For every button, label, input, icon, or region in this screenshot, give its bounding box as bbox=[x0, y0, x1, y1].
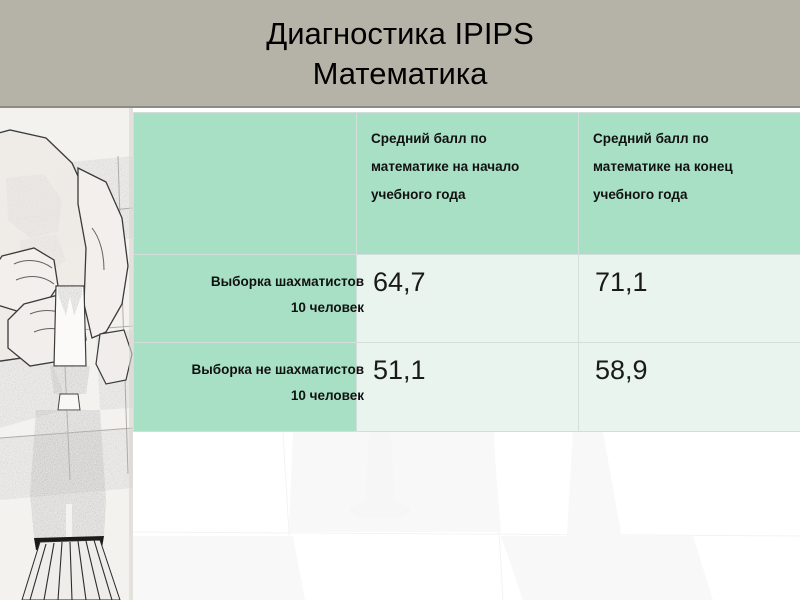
table-row: Выборка шахматистов 10 человек 64,7 71,1 bbox=[134, 254, 800, 343]
title-band: Диагностика IPIPS Математика bbox=[0, 0, 800, 108]
header-label-start-of-year: Средний балл по математике на начало уче… bbox=[357, 113, 578, 219]
chessboard-faint-icon bbox=[133, 432, 800, 600]
slide-canvas: Диагностика IPIPS Математика bbox=[0, 0, 800, 600]
row-label-text: Выборка не шахматистов 10 человек bbox=[134, 343, 364, 409]
background-chessboard-art bbox=[133, 432, 800, 600]
row-label-text: Выборка шахматистов 10 человек bbox=[134, 255, 364, 321]
hand-chess-king-icon bbox=[0, 108, 133, 600]
row-label-non-chess-players: Выборка не шахматистов 10 человек bbox=[134, 343, 357, 432]
value-text: 51,1 bbox=[357, 343, 578, 387]
header-cell-start-of-year: Средний балл по математике на начало уче… bbox=[357, 113, 579, 255]
header-label-empty bbox=[134, 113, 356, 135]
value-text: 64,7 bbox=[357, 255, 578, 299]
header-cell-empty bbox=[134, 113, 357, 255]
value-chess-players-end: 71,1 bbox=[579, 254, 800, 343]
value-non-chess-players-end: 58,9 bbox=[579, 343, 800, 432]
table-row: Выборка не шахматистов 10 человек 51,1 5… bbox=[134, 343, 800, 432]
chess-hand-illustration bbox=[0, 108, 133, 600]
value-text: 58,9 bbox=[579, 343, 800, 387]
page-title: Диагностика IPIPS Математика bbox=[0, 14, 800, 94]
value-non-chess-players-start: 51,1 bbox=[357, 343, 579, 432]
results-table-container: Средний балл по математике на начало уче… bbox=[133, 112, 800, 432]
value-text: 71,1 bbox=[579, 255, 800, 299]
value-chess-players-start: 64,7 bbox=[357, 254, 579, 343]
table-header-row: Средний балл по математике на начало уче… bbox=[134, 113, 800, 255]
header-label-end-of-year: Средний балл по математике на конец учеб… bbox=[579, 113, 800, 219]
results-table: Средний балл по математике на начало уче… bbox=[133, 112, 800, 432]
header-cell-end-of-year: Средний балл по математике на конец учеб… bbox=[579, 113, 800, 255]
row-label-chess-players: Выборка шахматистов 10 человек bbox=[134, 254, 357, 343]
